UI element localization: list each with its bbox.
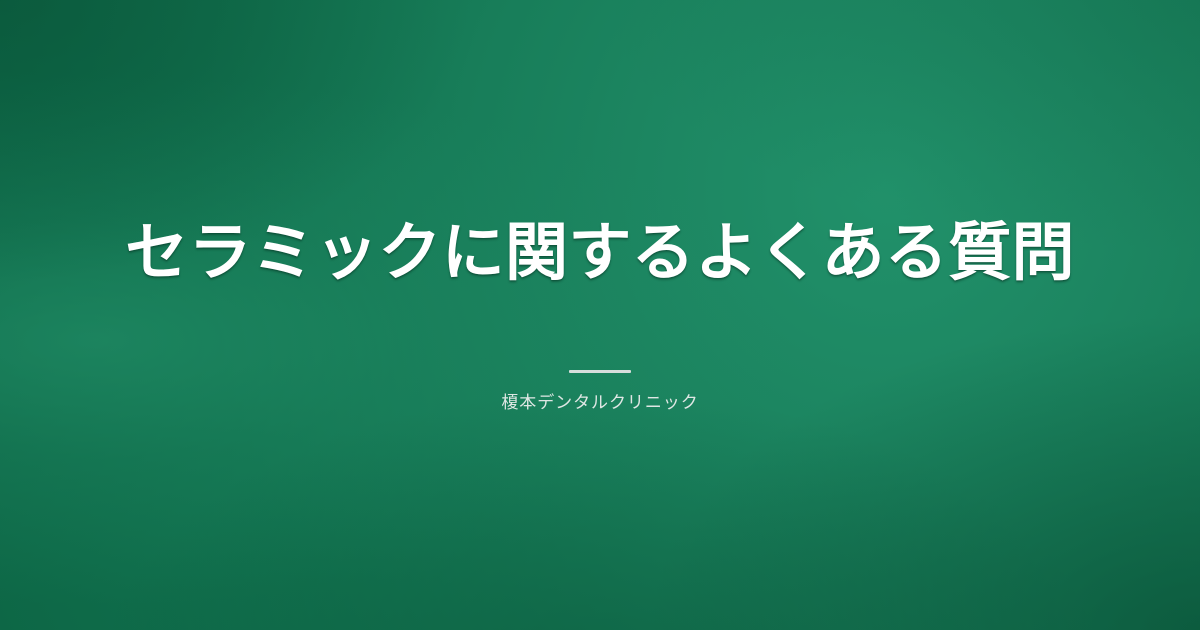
card-content: セラミックに関するよくある質問 榎本デンタルクリニック: [0, 215, 1200, 415]
og-card: セラミックに関するよくある質問 榎本デンタルクリニック: [0, 0, 1200, 630]
title-divider: [569, 370, 631, 373]
page-title: セラミックに関するよくある質問: [125, 215, 1075, 292]
divider-container: [70, 370, 1130, 373]
site-name: 榎本デンタルクリニック: [501, 390, 698, 416]
